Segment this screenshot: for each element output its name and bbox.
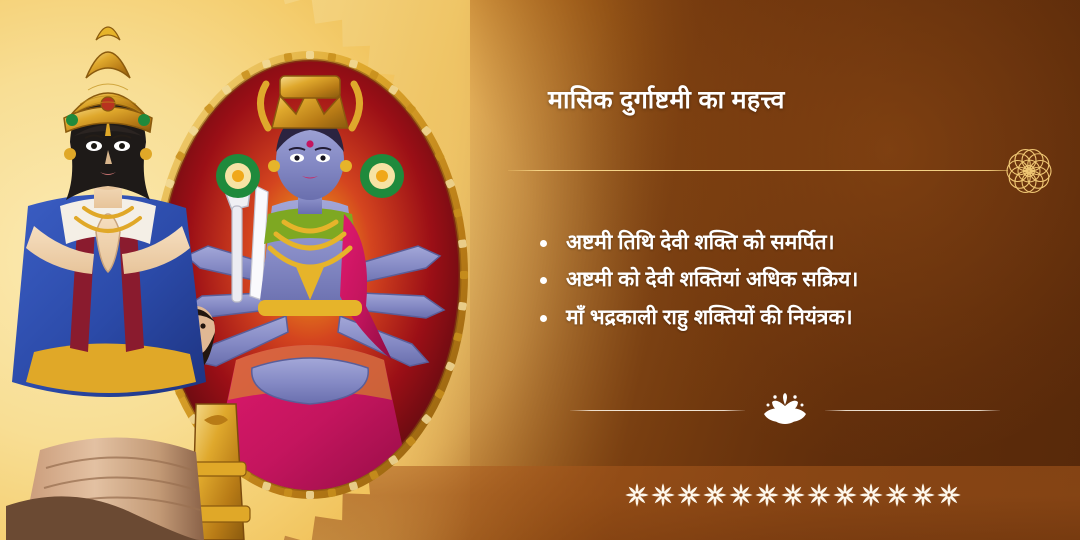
eight-petal-flower-icon — [624, 478, 650, 512]
list-item: अष्टमी तिथि देवी शक्ति को समर्पित। — [540, 228, 1060, 258]
content-column: मासिक दुर्गाष्टमी का महत्त्व अष्टमी तिथि… — [505, 0, 1080, 540]
bullet-text: माँ भद्रकाली राहु शक्तियों की नियंत्रक। — [566, 303, 853, 333]
eight-petal-flower-icon — [754, 478, 780, 512]
bullet-text: अष्टमी तिथि देवी शक्ति को समर्पित। — [566, 228, 835, 258]
list-item: अष्टमी को देवी शक्तियां अधिक सक्रिय। — [540, 265, 1060, 295]
eight-petal-flower-icon — [650, 478, 676, 512]
kneeling-devotee-figure — [6, 27, 206, 540]
list-item: माँ भद्रकाली राहु शक्तियों की नियंत्रक। — [540, 303, 1060, 333]
bullet-dot-icon — [540, 240, 547, 247]
banner-canvas: मासिक दुर्गाष्टमी का महत्त्व अष्टमी तिथि… — [0, 0, 1080, 540]
eight-petal-flower-icon — [728, 478, 754, 512]
title-divider-rule — [508, 170, 1008, 171]
eight-petal-flower-icon — [858, 478, 884, 512]
eight-petal-flower-icon — [676, 478, 702, 512]
eight-petal-flower-icon — [936, 478, 962, 512]
bullet-list: अष्टमी तिथि देवी शक्ति को समर्पित। अष्टम… — [540, 228, 1060, 340]
divider-rule-left — [570, 410, 745, 411]
eight-petal-flower-icon — [884, 478, 910, 512]
eight-petal-flower-icon — [832, 478, 858, 512]
deity-artwork — [0, 0, 500, 540]
lotus-icon — [759, 391, 811, 429]
divider-rule-right — [825, 410, 1000, 411]
eight-petal-flower-icon — [780, 478, 806, 512]
bullet-dot-icon — [540, 315, 547, 322]
page-title: मासिक दुर्गाष्टमी का महत्त्व — [548, 82, 785, 116]
eight-petal-flower-icon — [806, 478, 832, 512]
bullet-text: अष्टमी को देवी शक्तियां अधिक सक्रिय। — [566, 265, 858, 295]
eight-petal-flower-icon — [910, 478, 936, 512]
footer-flower-strip — [505, 478, 1080, 512]
bullet-dot-icon — [540, 277, 547, 284]
section-divider — [570, 390, 1000, 430]
devotee-crown — [64, 27, 152, 132]
eight-petal-flower-icon — [702, 478, 728, 512]
mandala-rosette-icon — [1003, 145, 1055, 197]
